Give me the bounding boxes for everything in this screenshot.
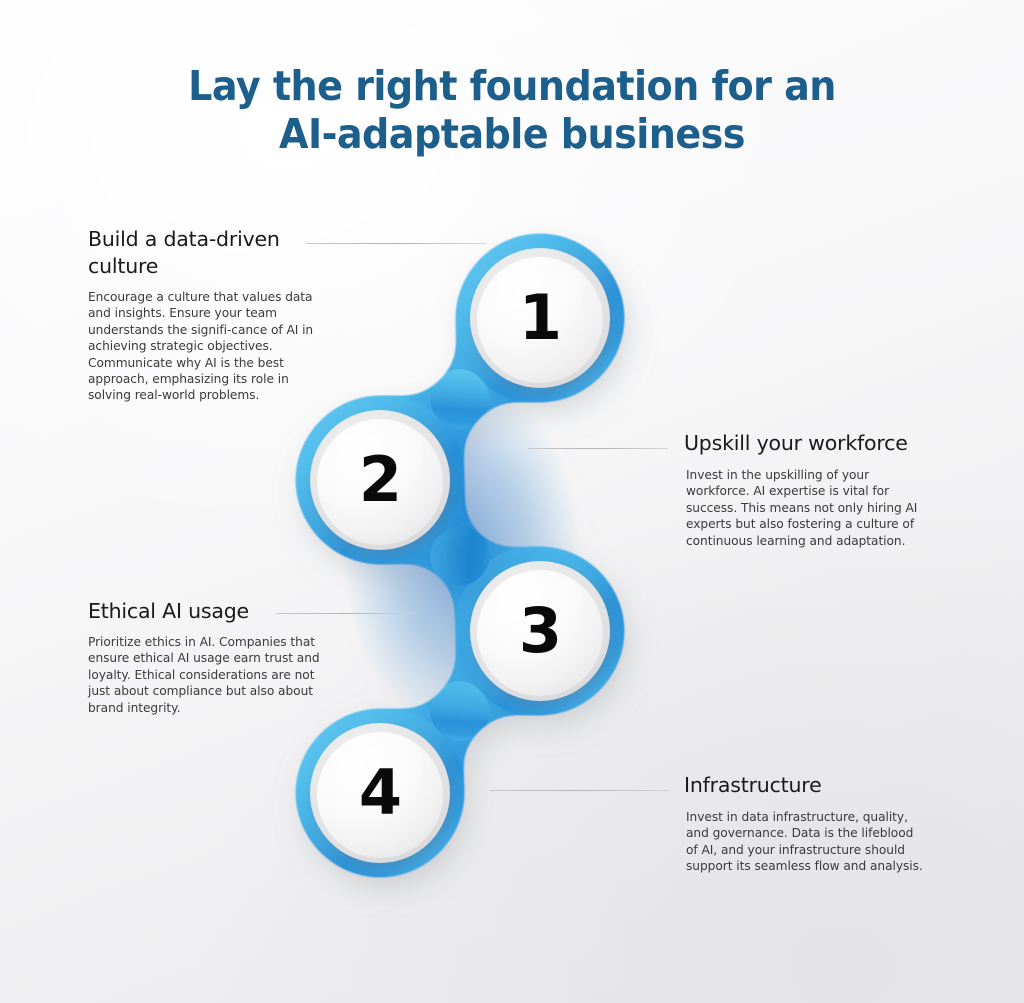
step-number-4: 4 xyxy=(340,753,420,833)
step-body-3: Prioritize ethics in AI. Companies that … xyxy=(88,634,324,716)
step-body-2: Invest in the upskilling of your workfor… xyxy=(684,467,930,549)
step-panel-2: Upskill your workforce Invest in the ups… xyxy=(684,430,930,549)
step-heading-4: Infrastructure xyxy=(684,772,928,799)
step-panel-3: Ethical AI usage Prioritize ethics in AI… xyxy=(88,598,324,716)
page-title-line-2: AI-adaptable business xyxy=(36,110,988,158)
step-heading-2: Upskill your workforce xyxy=(684,430,930,457)
leader-line-1 xyxy=(306,243,486,244)
step-body-1: Encourage a culture that values data and… xyxy=(88,289,320,404)
step-heading-1: Build a data-driven culture xyxy=(88,226,320,280)
step-body-4: Invest in data infrastructure, quality, … xyxy=(684,809,928,875)
page-title: Lay the right foundation for an AI-adapt… xyxy=(0,62,1024,158)
infographic-canvas: Lay the right foundation for an AI-adapt… xyxy=(0,0,1024,1003)
step-panel-1: Build a data-driven culture Encourage a … xyxy=(88,226,320,404)
step-number-1: 1 xyxy=(500,278,580,358)
page-title-line-1: Lay the right foundation for an xyxy=(36,62,988,110)
leader-line-2 xyxy=(528,448,668,449)
leader-line-4 xyxy=(490,790,670,791)
step-panel-4: Infrastructure Invest in data infrastruc… xyxy=(684,772,928,875)
step-number-3: 3 xyxy=(500,591,580,671)
step-heading-3: Ethical AI usage xyxy=(88,598,324,625)
step-number-2: 2 xyxy=(340,440,420,520)
